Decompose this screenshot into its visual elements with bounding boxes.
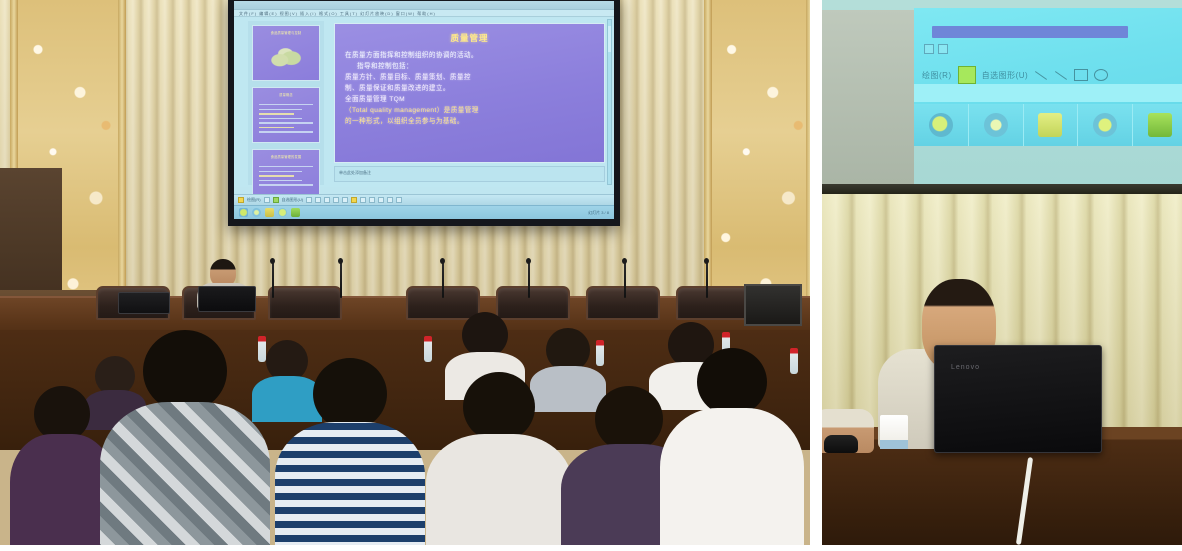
slide-body-line: 全面质量管理 TQM	[345, 94, 594, 105]
slide-title: 质量管理	[345, 32, 594, 44]
selected-text-highlight	[932, 26, 1128, 38]
app-icon[interactable]	[291, 208, 300, 217]
notes-pane[interactable]: 单击此处添加备注	[334, 166, 605, 182]
audience-member	[674, 348, 790, 545]
wall-block	[822, 10, 914, 184]
powerpoint-window: 文件(F) 编辑(E) 视图(V) 插入(I) 格式(O) 工具(T) 幻灯片放…	[234, 1, 614, 219]
desk-microphone	[624, 262, 626, 298]
drawing-toolbar-closeup[interactable]: 绘图(R) 自选图形(U)	[922, 66, 1182, 84]
desk-microphone	[340, 262, 342, 298]
projected-screen-area: 绘图(R) 自选图形(U)	[914, 8, 1182, 146]
audience-member	[290, 358, 410, 545]
toolbar-small-icons[interactable]	[924, 44, 948, 54]
internet-explorer-icon[interactable]	[984, 113, 1008, 137]
thumbnail-title: 食品质量管理与控制	[253, 31, 319, 35]
desk-microphone	[528, 262, 530, 298]
taskbar-cell[interactable]	[1133, 104, 1182, 146]
play-icon[interactable]	[278, 208, 287, 217]
conference-chair	[586, 286, 660, 320]
panel-gutter-overlay	[810, 0, 822, 551]
slide-thumbnail-pane[interactable]: 食品质量管理与控制 质量概念 食品质量管理的发展	[248, 21, 324, 185]
powerpoint-body: 食品质量管理与控制 质量概念 食品质量管理的发展	[234, 18, 614, 187]
toolbar-icon[interactable]	[938, 44, 948, 54]
computer-mouse	[824, 435, 858, 453]
desk-microphone	[272, 262, 274, 298]
audience-member	[120, 330, 250, 545]
thumbnail-body-lines	[259, 104, 313, 136]
laptop-brand-label: Lenovo	[951, 364, 980, 371]
conference-chair	[676, 286, 750, 320]
paper-cup-band	[880, 440, 908, 449]
internet-explorer-icon[interactable]	[252, 208, 261, 217]
windows-taskbar-closeup[interactable]	[914, 104, 1182, 146]
select-arrow-icon[interactable]	[264, 197, 270, 203]
autoshapes-label: 自选图形(U)	[982, 70, 1029, 81]
toolbar-icon[interactable]	[924, 44, 934, 54]
arrow-icon[interactable]	[315, 197, 321, 203]
drawing-toolbar[interactable]: 绘图(R) 自选图形(U)	[234, 194, 614, 205]
vertical-scrollbar[interactable]	[607, 19, 612, 185]
wall-loudspeaker	[744, 284, 802, 326]
rectangle-icon[interactable]	[324, 197, 330, 203]
oval-icon[interactable]	[333, 197, 339, 203]
slide-body-line: 指导和控制包括：	[345, 61, 594, 72]
textbox-icon[interactable]	[342, 197, 348, 203]
taskbar-cell[interactable]	[1024, 104, 1079, 146]
left-panel-lecture-hall: 文件(F) 编辑(E) 视图(V) 插入(I) 格式(O) 工具(T) 幻灯片放…	[0, 0, 810, 545]
thumbnail-title: 质量概念	[253, 93, 319, 97]
shadow-icon[interactable]	[387, 197, 393, 203]
slide-body-line: （Total quality management）是质量管理	[345, 105, 594, 116]
screen-surface: 文件(F) 编辑(E) 视图(V) 插入(I) 格式(O) 工具(T) 幻灯片放…	[234, 1, 614, 219]
projected-screen-closeup-photo: 绘图(R) 自选图形(U)	[822, 0, 1182, 184]
bottom-white-strip	[0, 545, 1182, 551]
column-edge-left-inner	[118, 0, 126, 330]
right-panel: 绘图(R) 自选图形(U)	[822, 0, 1182, 545]
slide-body-line: 的一种形式，以组织全员参与为基础。	[345, 116, 594, 127]
desk-microphone	[442, 262, 444, 298]
taskbar-cell[interactable]	[969, 104, 1024, 146]
line-icon[interactable]	[306, 197, 312, 203]
powerpoint-menu-text: 文件(F) 编辑(E) 视图(V) 插入(I) 格式(O) 工具(T) 幻灯片放…	[239, 10, 436, 17]
presenter-laptop	[198, 286, 256, 312]
powerpoint-titlebar	[234, 1, 614, 10]
water-bottle	[790, 348, 798, 374]
speaker-closeup-photo: Lenovo	[822, 184, 1182, 545]
media-player-icon[interactable]	[239, 208, 248, 217]
draw-menu-icon[interactable]	[238, 197, 244, 203]
autoshapes-icon[interactable]	[273, 197, 279, 203]
font-color-icon[interactable]	[378, 197, 384, 203]
second-laptop	[118, 292, 170, 314]
media-player-icon[interactable]	[929, 113, 953, 137]
conference-chair	[496, 286, 570, 320]
toolbar-spacer-band	[914, 84, 1182, 102]
folder-icon[interactable]	[265, 208, 274, 217]
wordart-icon[interactable]	[351, 197, 357, 203]
audience-member	[440, 372, 558, 545]
conference-chair	[268, 286, 342, 320]
ceiling-beam	[822, 184, 1182, 194]
app-icon[interactable]	[1148, 113, 1172, 137]
slide-body-line: 制、质量保证和质量改进的建立。	[345, 83, 594, 94]
marble-column-right	[712, 0, 810, 330]
thumbnail-body-lines	[259, 166, 313, 189]
draw-label: 绘图(R)	[247, 197, 261, 203]
slide-body-line: 质量方针、质量目标、质量策划、质量控	[345, 72, 594, 83]
taskbar-cell[interactable]	[1078, 104, 1133, 146]
status-slide-number: 幻灯片 3 / 8	[588, 210, 609, 216]
fill-color-icon[interactable]	[360, 197, 366, 203]
water-bottle	[424, 336, 432, 362]
line-icon[interactable]	[1035, 71, 1047, 80]
slide-thumbnail[interactable]: 质量概念	[252, 87, 320, 143]
draw-label: 绘图(R)	[922, 70, 952, 81]
select-objects-icon[interactable]	[958, 66, 976, 84]
desk-microphone	[706, 262, 708, 298]
folder-icon[interactable]	[1038, 113, 1062, 137]
3d-icon[interactable]	[396, 197, 402, 203]
windows-taskbar[interactable]: 幻灯片 3 / 8	[234, 205, 614, 219]
audience-member	[536, 328, 600, 408]
speaker-laptop: Lenovo	[934, 345, 1102, 453]
autoshapes-label: 自选图形(U)	[282, 197, 304, 203]
play-icon[interactable]	[1093, 113, 1117, 137]
projection-screen: 文件(F) 编辑(E) 视图(V) 插入(I) 格式(O) 工具(T) 幻灯片放…	[228, 0, 620, 226]
thumbnail-title: 食品质量管理的发展	[253, 155, 319, 159]
oval-icon[interactable]	[1094, 69, 1108, 81]
thumbnail-artwork	[269, 42, 305, 68]
slide-canvas[interactable]: 质量管理 在质量方面指挥和控制组织的协调的活动。 指导和控制包括： 质量方针、质…	[334, 23, 605, 163]
line-color-icon[interactable]	[369, 197, 375, 203]
audience-member	[22, 386, 102, 545]
rectangle-icon[interactable]	[1074, 69, 1088, 81]
photo-composite: 文件(F) 编辑(E) 视图(V) 插入(I) 格式(O) 工具(T) 幻灯片放…	[0, 0, 1182, 551]
arrow-icon[interactable]	[1055, 71, 1067, 80]
slide-thumbnail[interactable]: 食品质量管理与控制	[252, 25, 320, 81]
taskbar-cell[interactable]	[914, 104, 969, 146]
slide-body-line: 在质量方面指挥和控制组织的协调的活动。	[345, 50, 594, 61]
